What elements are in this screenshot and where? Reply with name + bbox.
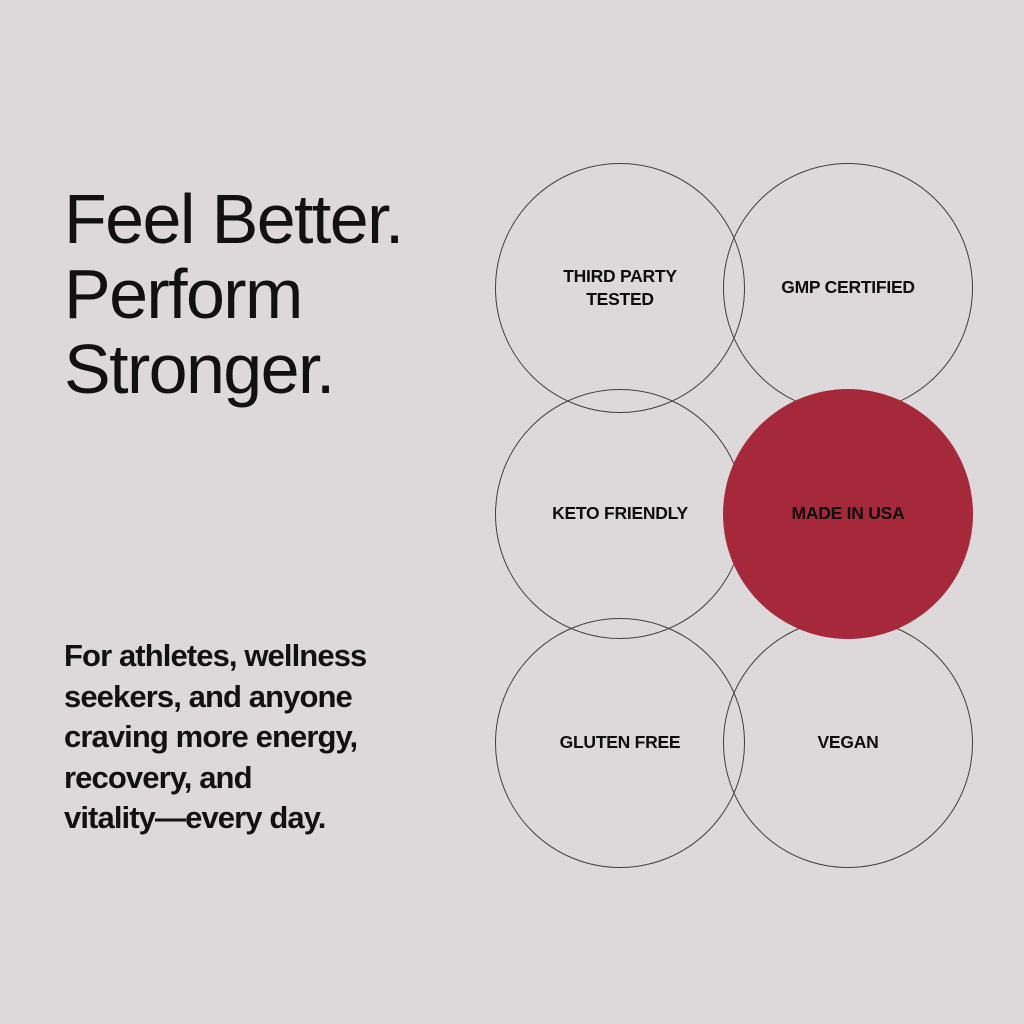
badge-keto-friendly[interactable]: KETO FRIENDLY bbox=[495, 389, 745, 639]
badge-third-party-tested[interactable]: THIRD PARTY TESTED bbox=[495, 163, 745, 413]
badge-label-third-party-tested: THIRD PARTY TESTED bbox=[555, 265, 685, 312]
badge-gluten-free[interactable]: GLUTEN FREE bbox=[495, 618, 745, 868]
badge-made-in-usa[interactable]: MADE IN USA bbox=[723, 389, 973, 639]
badge-label-gmp-certified: GMP CERTIFIED bbox=[773, 276, 923, 299]
badge-label-keto-friendly: KETO FRIENDLY bbox=[544, 502, 696, 525]
badge-cluster: THIRD PARTY TESTED GMP CERTIFIED KETO FR… bbox=[0, 0, 1024, 1024]
badge-label-vegan: VEGAN bbox=[810, 731, 887, 754]
poster-canvas: Feel Better. Perform Stronger. For athle… bbox=[0, 0, 1024, 1024]
badge-gmp-certified[interactable]: GMP CERTIFIED bbox=[723, 163, 973, 413]
badge-vegan[interactable]: VEGAN bbox=[723, 618, 973, 868]
badge-label-gluten-free: GLUTEN FREE bbox=[552, 731, 689, 754]
badge-label-made-in-usa: MADE IN USA bbox=[784, 502, 913, 525]
